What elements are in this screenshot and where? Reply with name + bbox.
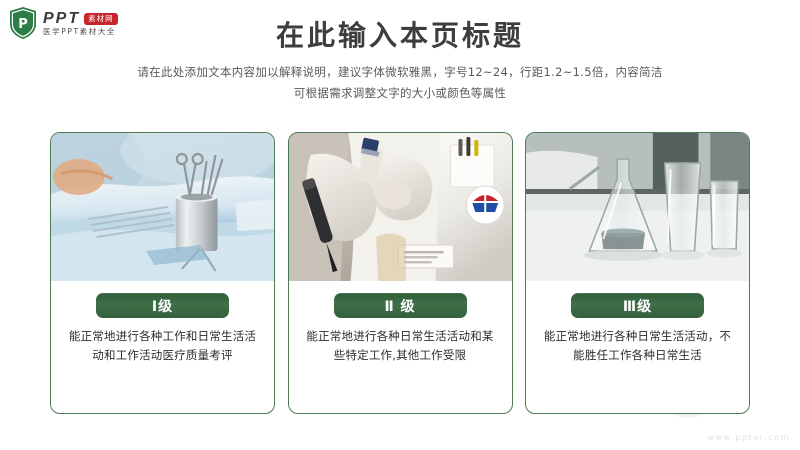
subtitle-line-1: 请在此处添加文本内容加以解释说明，建议字体微软雅黑，字号12~24，行距1.2~… (0, 62, 800, 83)
slide-canvas: P PPT 素材网 医学PPT素材大全 在此输入本页标题 请在此处添加文本内容加… (0, 0, 800, 450)
level-description: 能正常地进行各种工作和日常生活活动和工作活动医疗质量考评 (69, 327, 257, 364)
level-card-list: Ⅰ级 能正常地进行各种工作和日常生活活动和工作活动医疗质量考评 (50, 132, 750, 414)
subtitle-line-2: 可根据需求调整文字的大小或颜色等属性 (0, 83, 800, 104)
level-description: 能正常地进行各种日常生活活动和某些特定工作,其他工作受限 (306, 327, 494, 364)
level-card[interactable]: Ⅰ级 能正常地进行各种工作和日常生活活动和工作活动医疗质量考评 (50, 132, 275, 414)
page-subtitle: 请在此处添加文本内容加以解释说明，建议字体微软雅黑，字号12~24，行距1.2~… (0, 62, 800, 105)
card-body: Ⅱ 级 能正常地进行各种日常生活活动和某些特定工作,其他工作受限 (289, 281, 512, 413)
card-body: Ⅲ级 能正常地进行各种日常生活活动，不能胜任工作各种日常生活 (526, 281, 749, 413)
level-badge: Ⅲ级 (571, 293, 704, 318)
laboratory-glassware-photo (526, 133, 749, 281)
level-card[interactable]: Ⅲ级 能正常地进行各种日常生活活动，不能胜任工作各种日常生活 (525, 132, 750, 414)
level-badge: Ⅱ 级 (334, 293, 467, 318)
card-body: Ⅰ级 能正常地进行各种工作和日常生活活动和工作活动医疗质量考评 (51, 281, 274, 413)
level-description: 能正常地进行各种日常生活活动，不能胜任工作各种日常生活 (544, 327, 732, 364)
level-card[interactable]: Ⅱ 级 能正常地进行各种日常生活活动和某些特定工作,其他工作受限 (288, 132, 513, 414)
lab-technician-photo (289, 133, 512, 281)
surgical-instruments-photo (51, 133, 274, 281)
page-title: 在此输入本页标题 (0, 14, 800, 54)
footer-watermark: www.ppter.com (707, 433, 790, 442)
level-badge: Ⅰ级 (96, 293, 229, 318)
